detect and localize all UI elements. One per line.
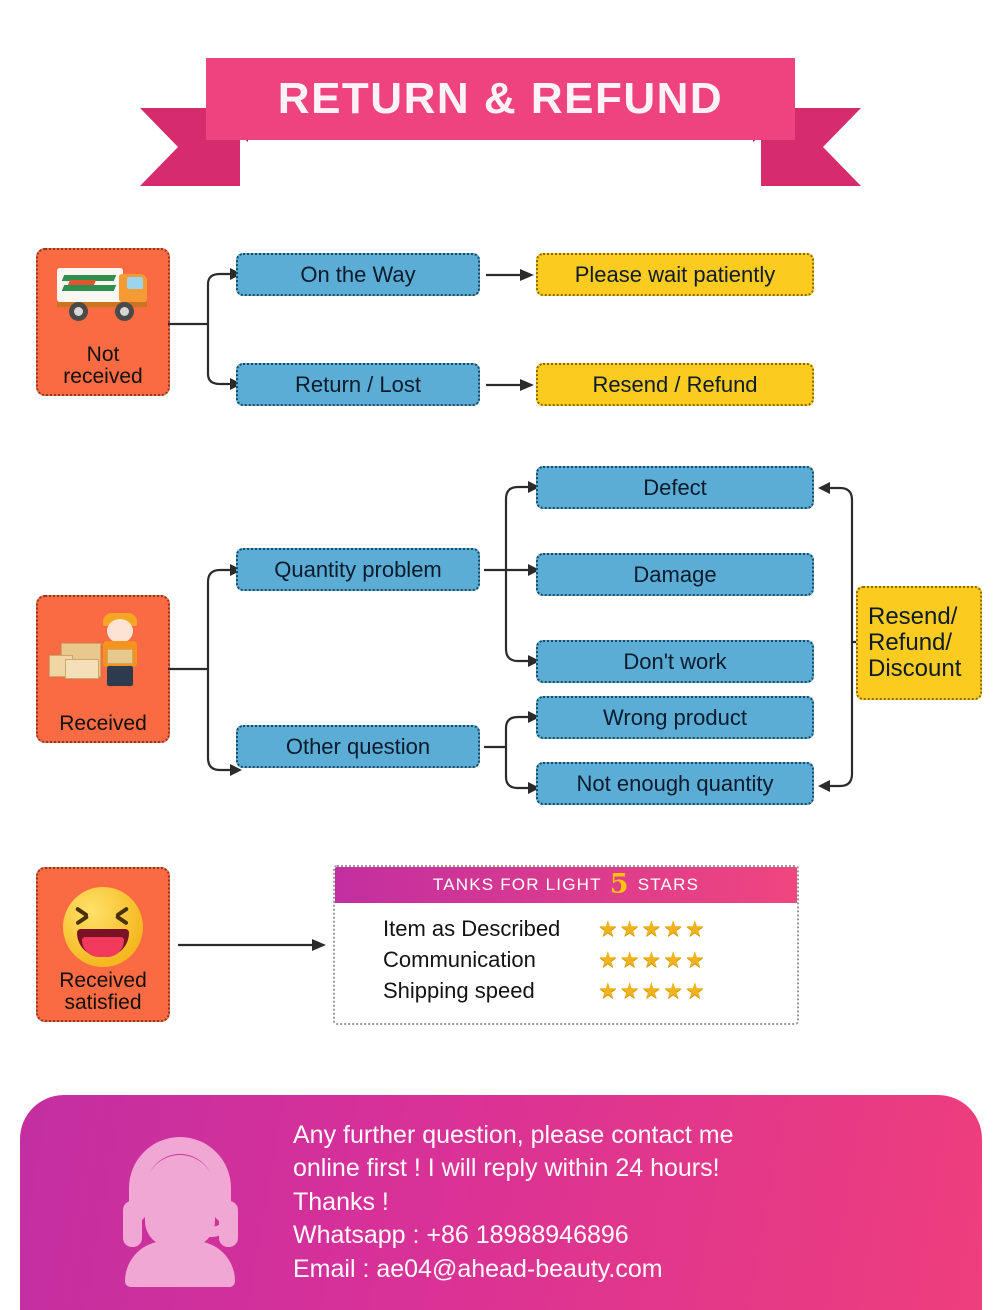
flow-box-label: Return / Lost	[295, 373, 421, 397]
rating-stars: ★ ★ ★ ★ ★	[598, 918, 705, 940]
issue-box-dont-work[interactable]: Don't work	[536, 640, 814, 683]
review-rating-card: TANKS FOR LIGHT 5 STARS Item as Describe…	[333, 865, 799, 1025]
resolution-box-resend-refund-discount[interactable]: Resend/ Refund/ Discount	[856, 586, 982, 700]
headset-operator-icon	[105, 1123, 255, 1283]
action-box-label: Please wait patiently	[575, 263, 776, 287]
satisfied-line2: satisfied	[64, 991, 141, 1014]
review-header-prefix: TANKS FOR LIGHT	[433, 875, 602, 895]
star-icon: ★	[641, 918, 661, 940]
issue-box-label: Defect	[643, 476, 707, 500]
page-title: RETURN & REFUND	[278, 74, 723, 124]
contact-whatsapp: Whatsapp : +86 18988946896	[293, 1219, 734, 1253]
contact-text-block: Any further question, please contact me …	[293, 1119, 734, 1287]
status-card-label: Not received	[38, 344, 168, 388]
delivery-truck-icon	[57, 264, 149, 322]
status-card-label: Received satisfied	[38, 970, 168, 1014]
review-card-header: TANKS FOR LIGHT 5 STARS	[335, 867, 797, 903]
status-card-not-received: Not received	[36, 248, 170, 396]
issue-box-label: Don't work	[623, 650, 726, 674]
contact-line-2: online first ! I will reply within 24 ho…	[293, 1152, 734, 1186]
contact-line-3: Thanks !	[293, 1186, 734, 1220]
rating-stars: ★ ★ ★ ★ ★	[598, 980, 705, 1002]
star-icon: ★	[685, 918, 705, 940]
flow-box-other-question[interactable]: Other question	[236, 725, 480, 768]
star-icon: ★	[663, 980, 683, 1002]
contact-email: Email : ae04@ahead-beauty.com	[293, 1253, 734, 1287]
star-icon: ★	[598, 918, 618, 940]
satisfied-line1: Received	[59, 969, 147, 992]
laughing-face-icon	[63, 887, 143, 967]
flow-box-label: On the Way	[300, 263, 415, 287]
status-card-received-satisfied: Received satisfied	[36, 867, 170, 1022]
flow-box-label: Other question	[286, 735, 430, 759]
star-icon: ★	[620, 918, 640, 940]
review-header-number: 5	[610, 871, 630, 898]
issue-box-not-enough-quantity[interactable]: Not enough quantity	[536, 762, 814, 805]
review-row: Item as Described ★ ★ ★ ★ ★	[383, 913, 797, 944]
star-icon: ★	[641, 949, 661, 971]
contact-footer: Any further question, please contact me …	[20, 1095, 982, 1310]
connector-on-the-way-to-action	[486, 268, 536, 282]
issue-box-damage[interactable]: Damage	[536, 553, 814, 596]
review-row-label: Shipping speed	[383, 978, 598, 1004]
star-icon: ★	[685, 949, 705, 971]
banner: RETURN & REFUND	[0, 50, 1001, 200]
connector-return-lost-to-action	[486, 378, 536, 392]
ribbon-body: RETURN & REFUND	[206, 58, 795, 140]
contact-line-1: Any further question, please contact me	[293, 1119, 734, 1153]
rating-stars: ★ ★ ★ ★ ★	[598, 949, 705, 971]
review-row: Shipping speed ★ ★ ★ ★ ★	[383, 975, 797, 1006]
star-icon: ★	[685, 980, 705, 1002]
flow-box-label: Quantity problem	[274, 558, 442, 582]
flow-box-quantity-problem[interactable]: Quantity problem	[236, 548, 480, 591]
issue-box-label: Damage	[633, 563, 716, 587]
infographic-page: RETURN & REFUND Not received On the Way …	[0, 0, 1001, 1310]
action-box-label: Resend / Refund	[592, 373, 757, 397]
issue-box-label: Not enough quantity	[577, 772, 774, 796]
connector-quantity-problem-issues	[484, 465, 540, 695]
resolution-line-1: Resend/	[868, 604, 957, 630]
issue-box-wrong-product[interactable]: Wrong product	[536, 696, 814, 739]
resolution-line-2: Refund/	[868, 630, 952, 656]
flow-box-return-lost[interactable]: Return / Lost	[236, 363, 480, 406]
not-received-line2: received	[63, 365, 142, 388]
review-row-label: Item as Described	[383, 916, 598, 942]
flow-box-on-the-way[interactable]: On the Way	[236, 253, 480, 296]
star-icon: ★	[620, 949, 640, 971]
action-box-please-wait[interactable]: Please wait patiently	[536, 253, 814, 296]
star-icon: ★	[663, 949, 683, 971]
connector-other-question-issues	[484, 700, 540, 810]
issue-box-label: Wrong product	[603, 706, 747, 730]
star-icon: ★	[598, 980, 618, 1002]
review-header-suffix: STARS	[638, 875, 699, 895]
review-row-label: Communication	[383, 947, 598, 973]
courier-with-parcels-icon	[45, 609, 161, 687]
connector-satisfied-to-review	[178, 938, 328, 952]
resolution-line-3: Discount	[868, 656, 961, 682]
star-icon: ★	[620, 980, 640, 1002]
review-row-list: Item as Described ★ ★ ★ ★ ★ Communicatio…	[335, 903, 797, 1006]
star-icon: ★	[663, 918, 683, 940]
star-icon: ★	[598, 949, 618, 971]
issue-box-defect[interactable]: Defect	[536, 466, 814, 509]
not-received-line1: Not	[87, 343, 120, 366]
star-icon: ★	[641, 980, 661, 1002]
review-row: Communication ★ ★ ★ ★ ★	[383, 944, 797, 975]
status-card-received: Received	[36, 595, 170, 743]
status-card-label: Received	[38, 713, 168, 735]
action-box-resend-refund[interactable]: Resend / Refund	[536, 363, 814, 406]
